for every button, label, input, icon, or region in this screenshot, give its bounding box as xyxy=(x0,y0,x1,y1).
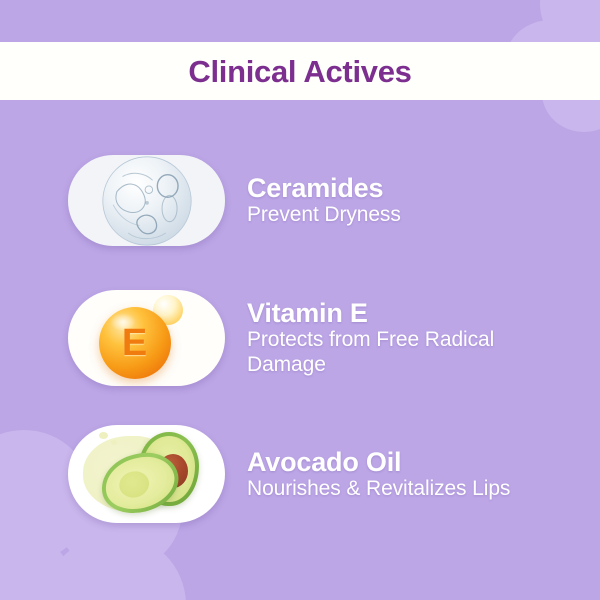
oil-droplet xyxy=(111,440,117,445)
ingredient-row-avocado-oil: Avocado Oil Nourishes & Revitalizes Lips xyxy=(68,425,568,523)
avocado-icon xyxy=(81,430,213,518)
ingredient-name: Avocado Oil xyxy=(247,447,510,477)
clinical-actives-poster: Clinical Actives xyxy=(0,0,600,600)
avocado-oil-text: Avocado Oil Nourishes & Revitalizes Lips xyxy=(247,447,510,502)
ingredient-row-ceramides: Ceramides Prevent Dryness xyxy=(68,155,568,246)
ingredient-benefit: Prevent Dryness xyxy=(247,203,401,228)
oil-droplet xyxy=(99,432,108,439)
water-droplet-icon xyxy=(100,155,194,246)
vitamin-e-thumbnail: E xyxy=(68,290,225,386)
ingredient-benefit: Protects from Free Radical Damage xyxy=(247,328,567,378)
ingredient-name: Ceramides xyxy=(247,173,401,203)
avocado-hollow xyxy=(116,468,151,500)
ceramides-thumbnail xyxy=(68,155,225,246)
ingredient-row-vitamin-e: E Vitamin E Protects from Free Radical D… xyxy=(68,290,568,386)
ingredient-list: Ceramides Prevent Dryness E Vitamin E Pr… xyxy=(0,100,600,600)
avocado-thumbnail xyxy=(68,425,225,523)
ceramides-text: Ceramides Prevent Dryness xyxy=(247,173,401,228)
ingredient-benefit: Nourishes & Revitalizes Lips xyxy=(247,477,510,502)
vitamin-e-text: Vitamin E Protects from Free Radical Dam… xyxy=(247,298,567,378)
vitamin-e-capsule-icon: E xyxy=(91,293,203,383)
page-title: Clinical Actives xyxy=(188,56,411,87)
capsule-letter: E xyxy=(99,307,171,379)
ingredient-name: Vitamin E xyxy=(247,298,567,328)
header-band: Clinical Actives xyxy=(0,42,600,100)
